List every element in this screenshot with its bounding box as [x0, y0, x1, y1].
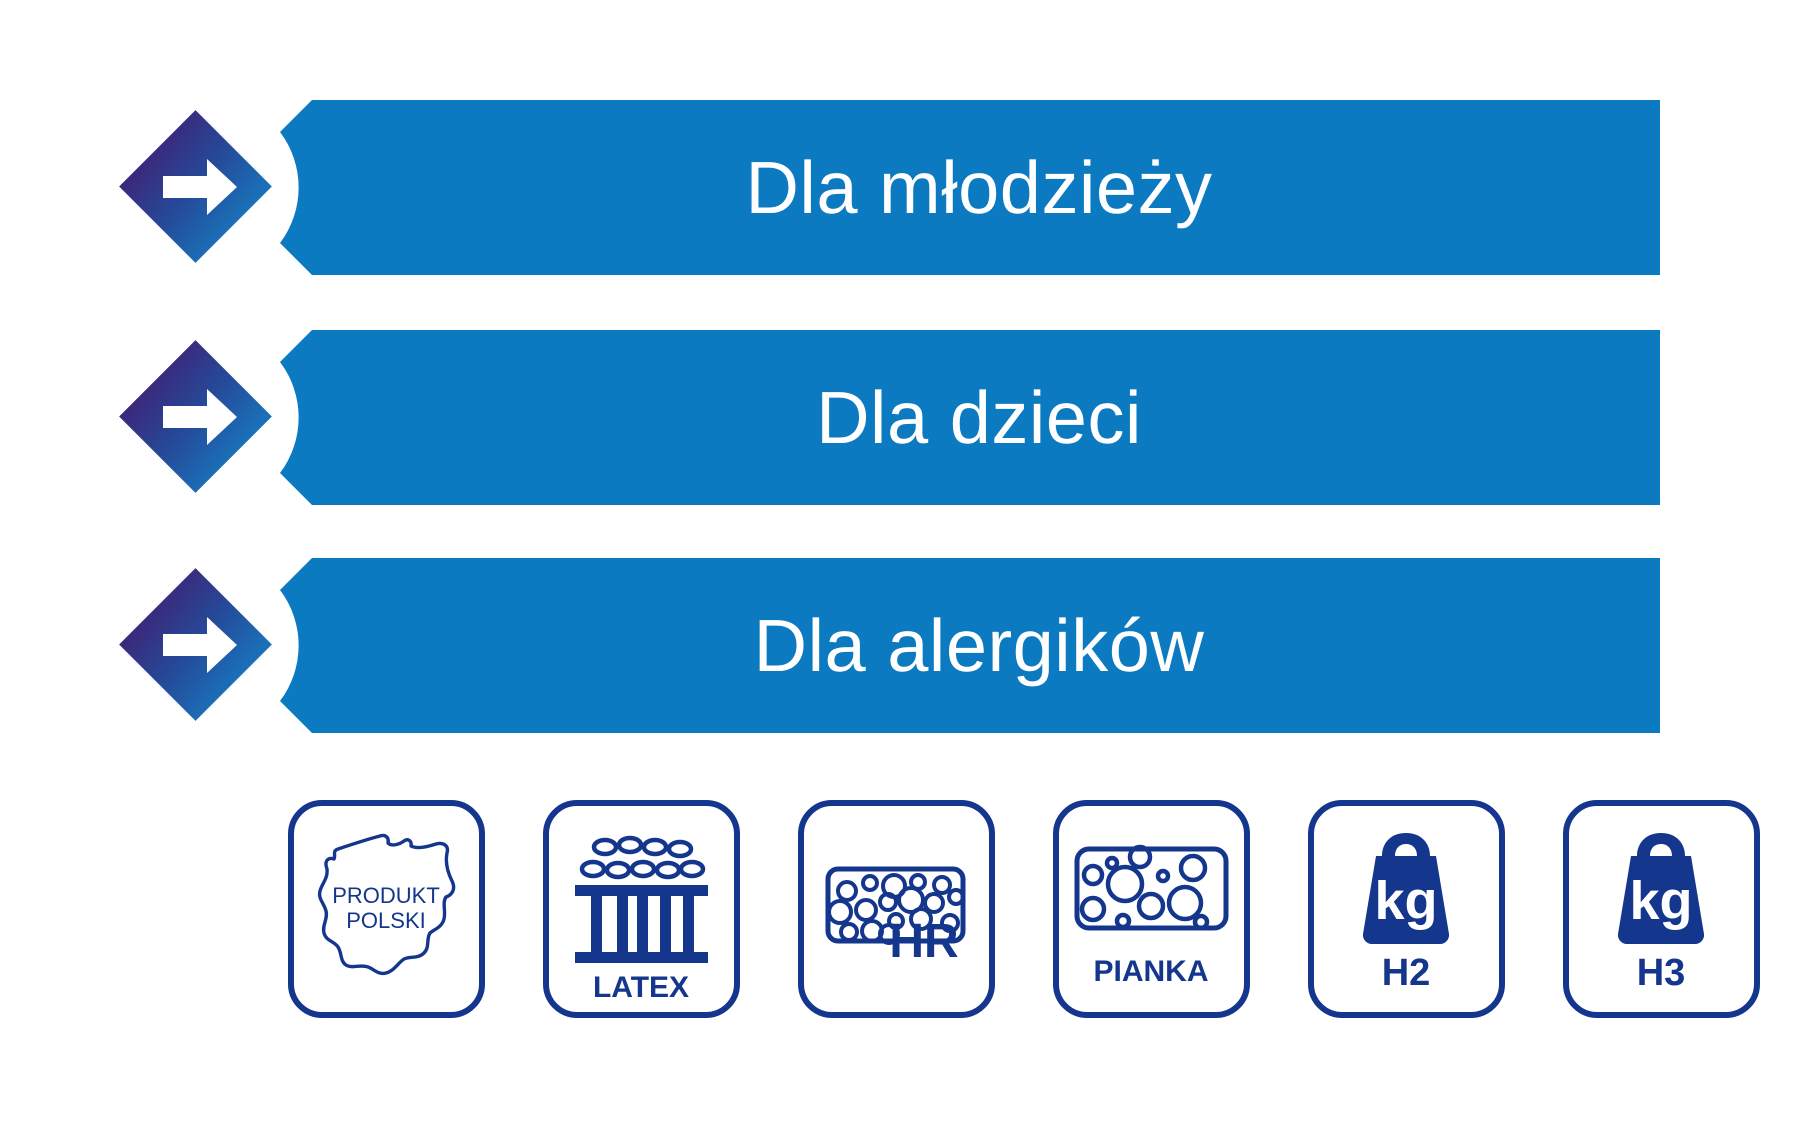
map-inner-line2: POLSKI [346, 908, 425, 933]
banner-label: Dla alergików [272, 558, 1660, 733]
arrow-right-diamond-icon [119, 110, 272, 263]
poland-map-icon: PRODUKT POLSKI [294, 811, 479, 1007]
kg-text: kg [1629, 871, 1692, 931]
feature-icon-label: PIANKA [1093, 955, 1208, 988]
feature-icon-card-pianka[interactable]: PIANKA [1053, 800, 1250, 1018]
map-inner-line1: PRODUKT [332, 883, 440, 908]
feature-icon-strip: PRODUKT POLSKI [0, 800, 1815, 1030]
feature-icon-label: H3 [1637, 952, 1686, 994]
feature-icon-card-h3[interactable]: kg H3 [1563, 800, 1760, 1018]
feature-icon-label: H2 [1382, 952, 1431, 994]
feature-banner-row: Dla młodzieży [0, 98, 1815, 298]
latex-comb-icon: LATEX [549, 811, 734, 1007]
feature-icon-card-latex[interactable]: LATEX [543, 800, 740, 1018]
kg-weight-icon: kg H3 [1569, 811, 1754, 1007]
feature-icon-card-produkt-polski[interactable]: PRODUKT POLSKI [288, 800, 485, 1018]
feature-banner-row: Dla dzieci [0, 328, 1815, 528]
kg-text: kg [1374, 871, 1437, 931]
feature-icon-label: LATEX [593, 971, 689, 1004]
arrow-right-diamond-icon [119, 568, 272, 721]
hr-foam-block-icon: HR [804, 811, 989, 1007]
banner-label: Dla młodzieży [272, 100, 1660, 275]
feature-icon-card-hr[interactable]: HR [798, 800, 995, 1018]
foam-block-icon: PIANKA [1059, 811, 1244, 1007]
arrow-right-diamond-icon [119, 340, 272, 493]
feature-icon-card-h2[interactable]: kg H2 [1308, 800, 1505, 1018]
kg-weight-icon: kg H2 [1314, 811, 1499, 1007]
feature-icon-label: HR [889, 915, 958, 968]
feature-banner-row: Dla alergików [0, 556, 1815, 756]
infographic-canvas: Dla młodzieży Dla dzieci [0, 0, 1815, 1136]
banner-label: Dla dzieci [272, 330, 1660, 505]
